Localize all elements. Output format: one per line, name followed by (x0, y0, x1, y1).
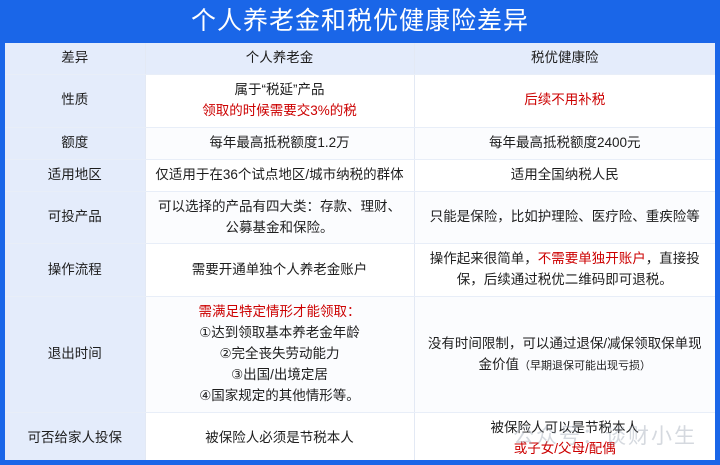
cell-pension: 可以选择的产品有四大类：存款、理财、公募基金和保险。 (145, 191, 414, 244)
cell-line: 每年最高抵税额度2400元 (423, 133, 708, 154)
cell-line: ③出国/出境定居 (154, 365, 406, 386)
cell-line: 属于“税延”产品 (154, 80, 406, 101)
page-title: 个人养老金和税优健康险差异 (191, 9, 529, 34)
cell-insurance: 没有时间限制，可以通过退保/减保领取保单现金价值（早期退保可能出现亏损） (414, 297, 715, 413)
cell-line: ④国家规定的其他情形等。 (154, 386, 406, 407)
cell-line: 后续不用补税 (423, 90, 708, 111)
cell-insurance: 操作起来很简单，不需要单独开账户，直接投保，后续通过税优二维码即可退税。 (414, 244, 715, 297)
cell-line: 需满足特定情形才能领取： (154, 302, 406, 323)
cell-line: 领取的时候需要交3%的税 (154, 101, 406, 122)
cell-line: 可以选择的产品有四大类：存款、理财、公募基金和保险。 (154, 197, 406, 239)
column-header-pension: 个人养老金 (145, 43, 414, 74)
row-label: 性质 (5, 74, 145, 127)
cell-line: 每年最高抵税额度1.2万 (154, 133, 406, 154)
cell-insurance: 被保险人可以是节税本人或子女/父母/配偶 (414, 412, 715, 460)
table-row: 适用地区仅适用于在36个试点地区/城市纳税的群体适用全国纳税人民 (5, 159, 715, 191)
cell-line: ①达到领取基本养老金年龄 (154, 323, 406, 344)
cell-line: 适用全国纳税人民 (423, 165, 708, 186)
cell-line: ②完全丧失劳动能力 (154, 344, 406, 365)
row-label: 可投产品 (5, 191, 145, 244)
cell-pension: 需满足特定情形才能领取：①达到领取基本养老金年龄②完全丧失劳动能力③出国/出境定… (145, 297, 414, 413)
column-header-diff: 差异 (5, 43, 145, 74)
cell-line: 或子女/父母/配偶 (423, 439, 708, 460)
row-label: 操作流程 (5, 244, 145, 297)
row-label: 适用地区 (5, 159, 145, 191)
table-row: 操作流程需要开通单独个人养老金账户操作起来很简单，不需要单独开账户，直接投保，后… (5, 244, 715, 297)
table-row: 可否给家人投保被保险人必须是节税本人被保险人可以是节税本人或子女/父母/配偶 (5, 412, 715, 460)
column-header-insurance: 税优健康险 (414, 43, 715, 74)
row-label: 可否给家人投保 (5, 412, 145, 460)
cell-pension: 每年最高抵税额度1.2万 (145, 127, 414, 159)
table-row: 额度每年最高抵税额度1.2万每年最高抵税额度2400元 (5, 127, 715, 159)
cell-insurance: 每年最高抵税额度2400元 (414, 127, 715, 159)
cell-line: 被保险人可以是节税本人 (423, 418, 708, 439)
table-row: 可投产品可以选择的产品有四大类：存款、理财、公募基金和保险。只能是保险，比如护理… (5, 191, 715, 244)
cell-insurance: 适用全国纳税人民 (414, 159, 715, 191)
table-row: 退出时间需满足特定情形才能领取：①达到领取基本养老金年龄②完全丧失劳动能力③出国… (5, 297, 715, 413)
cell-segment: 操作起来很简单， (430, 251, 538, 266)
cell-pension: 仅适用于在36个试点地区/城市纳税的群体 (145, 159, 414, 191)
cell-pension: 需要开通单独个人养老金账户 (145, 244, 414, 297)
table-row: 性质属于“税延”产品领取的时候需要交3%的税后续不用补税 (5, 74, 715, 127)
title-bar: 个人养老金和税优健康险差异 (5, 0, 715, 43)
cell-pension: 被保险人必须是节税本人 (145, 412, 414, 460)
cell-segment: 不需要单独开账户 (538, 251, 646, 266)
row-label: 额度 (5, 127, 145, 159)
comparison-table: 差异 个人养老金 税优健康险 性质属于“税延”产品领取的时候需要交3%的税后续不… (5, 43, 715, 460)
page-root: 个人养老金和税优健康险差异 差异 个人养老金 税优健康险 性质属于“税延”产品领… (0, 0, 720, 465)
cell-line: 仅适用于在36个试点地区/城市纳税的群体 (154, 165, 406, 186)
cell-pension: 属于“税延”产品领取的时候需要交3%的税 (145, 74, 414, 127)
cell-insurance: 后续不用补税 (414, 74, 715, 127)
cell-line: 只能是保险，比如护理险、医疗险、重疾险等 (423, 207, 708, 228)
cell-insurance: 只能是保险，比如护理险、医疗险、重疾险等 (414, 191, 715, 244)
row-label: 退出时间 (5, 297, 145, 413)
cell-line: 被保险人必须是节税本人 (154, 428, 406, 449)
table-header-row: 差异 个人养老金 税优健康险 (5, 43, 715, 74)
cell-line: 需要开通单独个人养老金账户 (154, 260, 406, 281)
cell-segment: （早期退保可能出现亏损） (519, 360, 651, 372)
comparison-table-container: 差异 个人养老金 税优健康险 性质属于“税延”产品领取的时候需要交3%的税后续不… (5, 43, 715, 460)
